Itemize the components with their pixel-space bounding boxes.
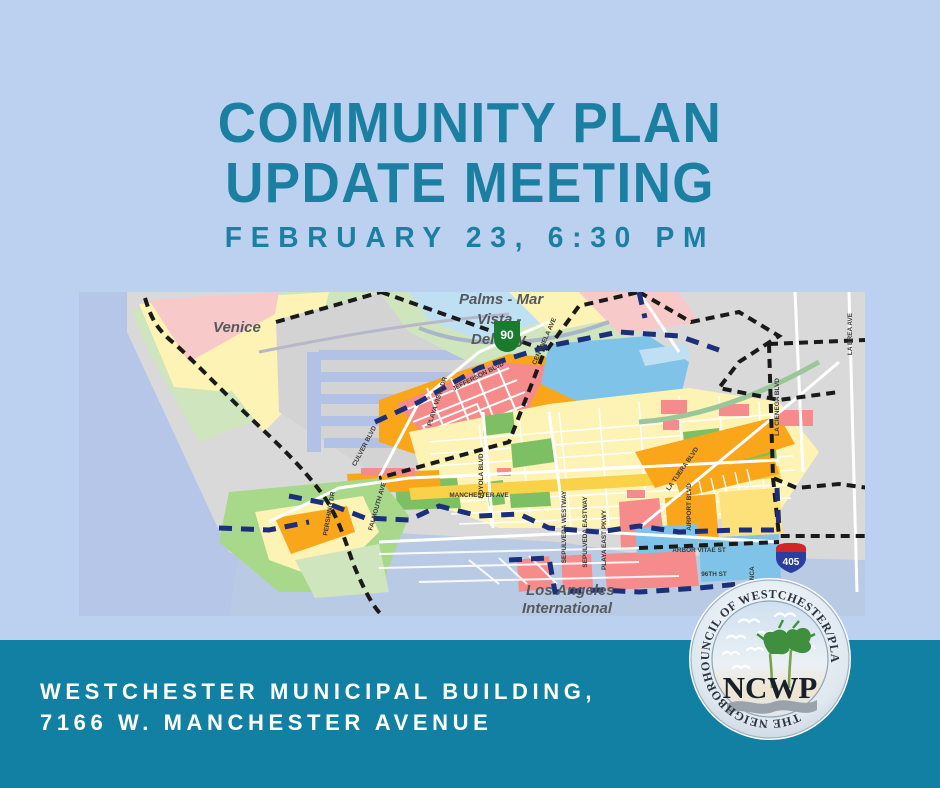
map-street-label: AIRPORT BLVD xyxy=(686,483,693,531)
flyer-poster: COMMUNITY PLAN UPDATE MEETING FEBRUARY 2… xyxy=(0,0,940,788)
map-street-label: SEPULVEDA EASTWAY xyxy=(582,496,589,568)
map-street-label: LA BREA AVE xyxy=(847,312,854,355)
headline-block: COMMUNITY PLAN UPDATE MEETING FEBRUARY 2… xyxy=(0,94,940,253)
venue-address-line-1: WESTCHESTER MUNICIPAL BUILDING, xyxy=(40,676,680,707)
ncwp-logo: NCWP COUNCIL OF WESTCHESTER/PLAYA THE NE… xyxy=(687,576,853,742)
map-area-label: Los Angeles xyxy=(526,582,615,599)
logo-acronym: NCWP xyxy=(723,670,818,705)
map-graphic: VenicePalms - MarVista -Del ReyLos Angel… xyxy=(79,292,865,616)
map-area-label: International xyxy=(522,600,613,616)
svg-text:90: 90 xyxy=(500,328,514,342)
venue-address: WESTCHESTER MUNICIPAL BUILDING, 7166 W. … xyxy=(40,676,680,738)
headline-line-1: COMMUNITY PLAN xyxy=(33,94,907,152)
svg-text:405: 405 xyxy=(783,557,800,568)
state-route-90-shield: 90 xyxy=(494,321,520,352)
map-street-label: LOYOLA BLVD xyxy=(478,453,485,498)
headline-line-2: UPDATE MEETING xyxy=(33,154,907,212)
map-lax-parcel-g xyxy=(603,550,699,590)
map-street-label: SEPULVEDA WESTWAY xyxy=(561,490,568,563)
map-area-label: Venice xyxy=(213,319,261,336)
meeting-date-time: FEBRUARY 23, 6:30 PM xyxy=(14,223,926,253)
map-area-label: Palms - Mar xyxy=(459,292,544,308)
map-street-label: PLAYA EAST PKWY xyxy=(601,509,608,570)
map-street-label: ARBOR VITAE ST xyxy=(672,547,726,554)
venue-address-line-2: 7166 W. MANCHESTER AVENUE xyxy=(40,707,680,738)
ncwp-logo-graphic: NCWP COUNCIL OF WESTCHESTER/PLAYA THE NE… xyxy=(687,576,853,742)
map-street-label: LA CIENEGA BLVD xyxy=(774,378,781,436)
community-plan-map: VenicePalms - MarVista -Del ReyLos Angel… xyxy=(79,292,865,616)
